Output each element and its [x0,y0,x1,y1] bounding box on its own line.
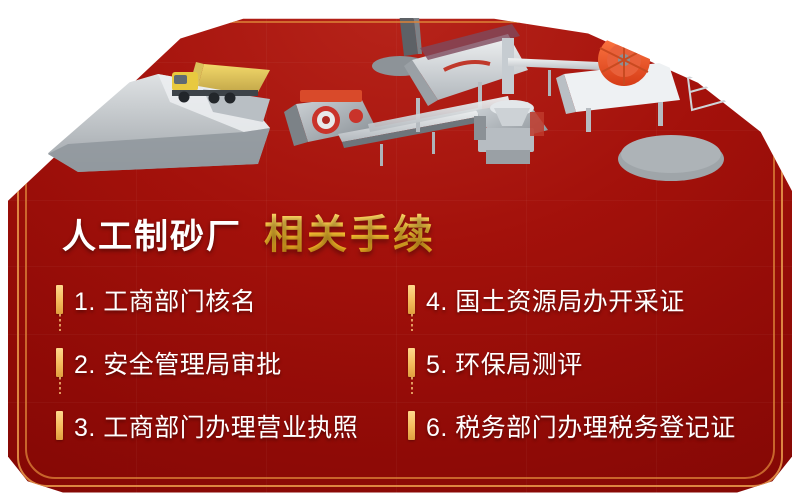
list-item-label: 1. 工商部门核名 [74,282,256,318]
promotional-banner: 人工制砂厂 相关手续 1. 工商部门核名 4. 国土资源局办开采证 2. 安全管… [0,0,800,500]
headline-primary: 人工制砂厂 [62,209,242,258]
sand-plant-illustration [8,4,792,204]
plant-svg [8,4,792,204]
support-frame [688,68,728,110]
dotted-connector-icon [411,377,413,394]
dotted-connector-icon [59,314,61,331]
dotted-connector-icon [411,314,413,331]
gold-bar-marker-icon [408,411,415,440]
dotted-connector-icon [59,377,61,394]
gold-bar-marker-icon [408,348,415,377]
gold-bar-marker-icon [56,411,63,440]
list-item-label: 6. 税务部门办理税务登记证 [426,408,736,444]
list-item: 2. 安全管理局审批 [56,331,408,394]
list-item: 6. 税务部门办理税务登记证 [408,394,756,457]
list-item-label: 4. 国土资源局办开采证 [426,282,685,318]
list-item: 5. 环保局测评 [408,331,756,394]
list-item-label: 3. 工商部门办理营业执照 [74,408,358,444]
list-item-label: 2. 安全管理局审批 [74,345,282,381]
list-item: 4. 国土资源局办开采证 [408,268,756,331]
list-item: 1. 工商部门核名 [56,268,408,331]
chimney [398,4,418,56]
headline-accent: 相关手续 [264,202,436,260]
headline: 人工制砂厂 相关手续 [62,202,436,260]
vsi-sand-making-machine [474,100,548,164]
gold-bar-marker-icon [408,285,415,314]
wheel-sand-washer [556,34,680,132]
gold-bar-marker-icon [56,348,63,377]
list-item-label: 5. 环保局测评 [426,345,583,381]
procedure-list: 1. 工商部门核名 4. 国土资源局办开采证 2. 安全管理局审批 5. 环保局… [56,268,756,457]
gold-bar-marker-icon [56,285,63,314]
list-item: 3. 工商部门办理营业执照 [56,394,408,457]
